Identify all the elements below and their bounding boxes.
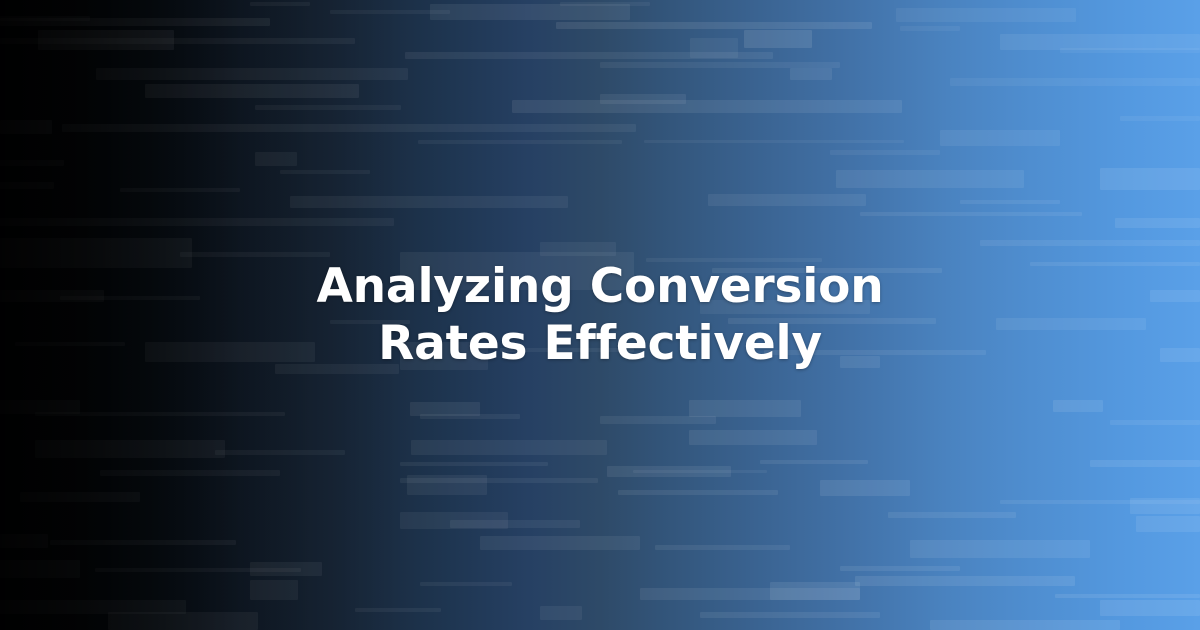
banner: Analyzing Conversion Rates Effectively — [0, 0, 1200, 630]
title-container: Analyzing Conversion Rates Effectively — [0, 0, 1200, 630]
page-title: Analyzing Conversion Rates Effectively — [250, 258, 950, 372]
